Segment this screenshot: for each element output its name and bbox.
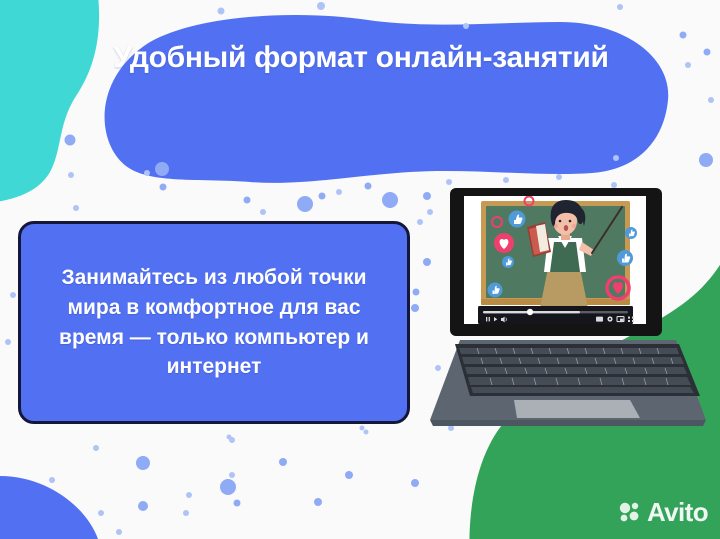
laptop-trackpad[interactable]: [514, 400, 640, 418]
settings-icon: [607, 316, 612, 321]
poster-canvas: Удобный формат онлайн-занятий: [0, 0, 720, 539]
avito-dots-icon: [618, 500, 642, 524]
body-copy-card: Занимайтесь из любой точки мира в комфор…: [18, 221, 410, 424]
progress-knob[interactable]: [527, 309, 533, 315]
subtitles-icon: [596, 317, 603, 322]
video-player-bar[interactable]: [478, 306, 634, 324]
laptop-base-shadow: [430, 420, 706, 426]
avito-watermark-text: Avito: [647, 499, 708, 525]
body-copy-text: Занимайтесь из любой точки мира в комфор…: [21, 263, 407, 382]
avito-watermark: Avito: [618, 499, 708, 525]
